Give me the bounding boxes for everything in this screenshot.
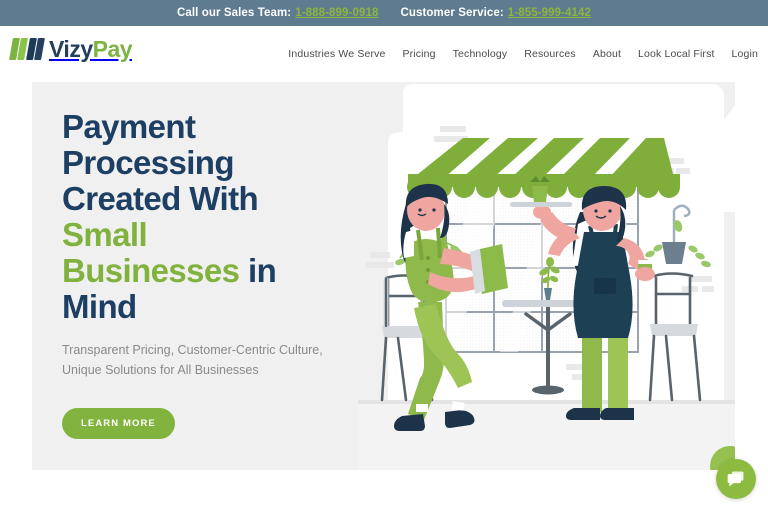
hero-copy: Payment Processing Created With Small Bu… [62, 109, 362, 439]
hero-headline: Payment Processing Created With Small Bu… [62, 109, 362, 325]
customer-service-phone-link[interactable]: 1-855-999-4142 [508, 7, 591, 19]
site-header: VizyPay Industries We Serve Pricing Tech… [0, 26, 768, 82]
learn-more-button[interactable]: LEARN MORE [62, 408, 175, 439]
hero-subcopy: Transparent Pricing, Customer-Centric Cu… [62, 340, 324, 381]
sales-phone-link[interactable]: 1-888-899-0918 [295, 7, 378, 19]
headline-tail-in: in [239, 252, 276, 289]
top-contact-bar-inner: Call our Sales Team: 1-888-899-0918 Cust… [177, 7, 591, 19]
nav-item-technology[interactable]: Technology [453, 48, 508, 60]
headline-green-small: Small [62, 216, 147, 253]
nav-item-pricing[interactable]: Pricing [403, 48, 436, 60]
logo-text-pay: Pay [93, 36, 132, 62]
top-contact-bar: Call our Sales Team: 1-888-899-0918 Cust… [0, 0, 768, 26]
chat-bubbles-icon [726, 469, 746, 489]
customer-service-label: Customer Service: [400, 7, 503, 19]
vizypay-logo-icon [10, 36, 44, 62]
hero-section: Payment Processing Created With Small Bu… [32, 82, 735, 470]
nav-item-about[interactable]: About [593, 48, 621, 60]
headline-line-5: Mind [62, 288, 137, 325]
headline-line-1: Payment [62, 108, 195, 145]
storefront-cafe-illustration [358, 82, 735, 470]
chat-widget-button[interactable] [716, 459, 756, 499]
nav-item-look-local-first[interactable]: Look Local First [638, 48, 715, 60]
headline-line-2: Processing [62, 144, 234, 181]
headline-line-3: Created With [62, 180, 258, 217]
logo-text-vizy: Vizy [49, 36, 93, 62]
headline-green-businesses: Businesses [62, 252, 239, 289]
sales-team-label: Call our Sales Team: [177, 7, 291, 19]
page-root: Call our Sales Team: 1-888-899-0918 Cust… [0, 0, 768, 512]
logo-wordmark: VizyPay [49, 38, 132, 61]
nav-item-industries-we-serve[interactable]: Industries We Serve [288, 48, 385, 60]
nav-item-resources[interactable]: Resources [524, 48, 576, 60]
logo-link[interactable]: VizyPay [10, 36, 132, 62]
nav-item-login[interactable]: Login [732, 48, 758, 60]
primary-navigation: Industries We Serve Pricing Technology R… [288, 26, 758, 82]
